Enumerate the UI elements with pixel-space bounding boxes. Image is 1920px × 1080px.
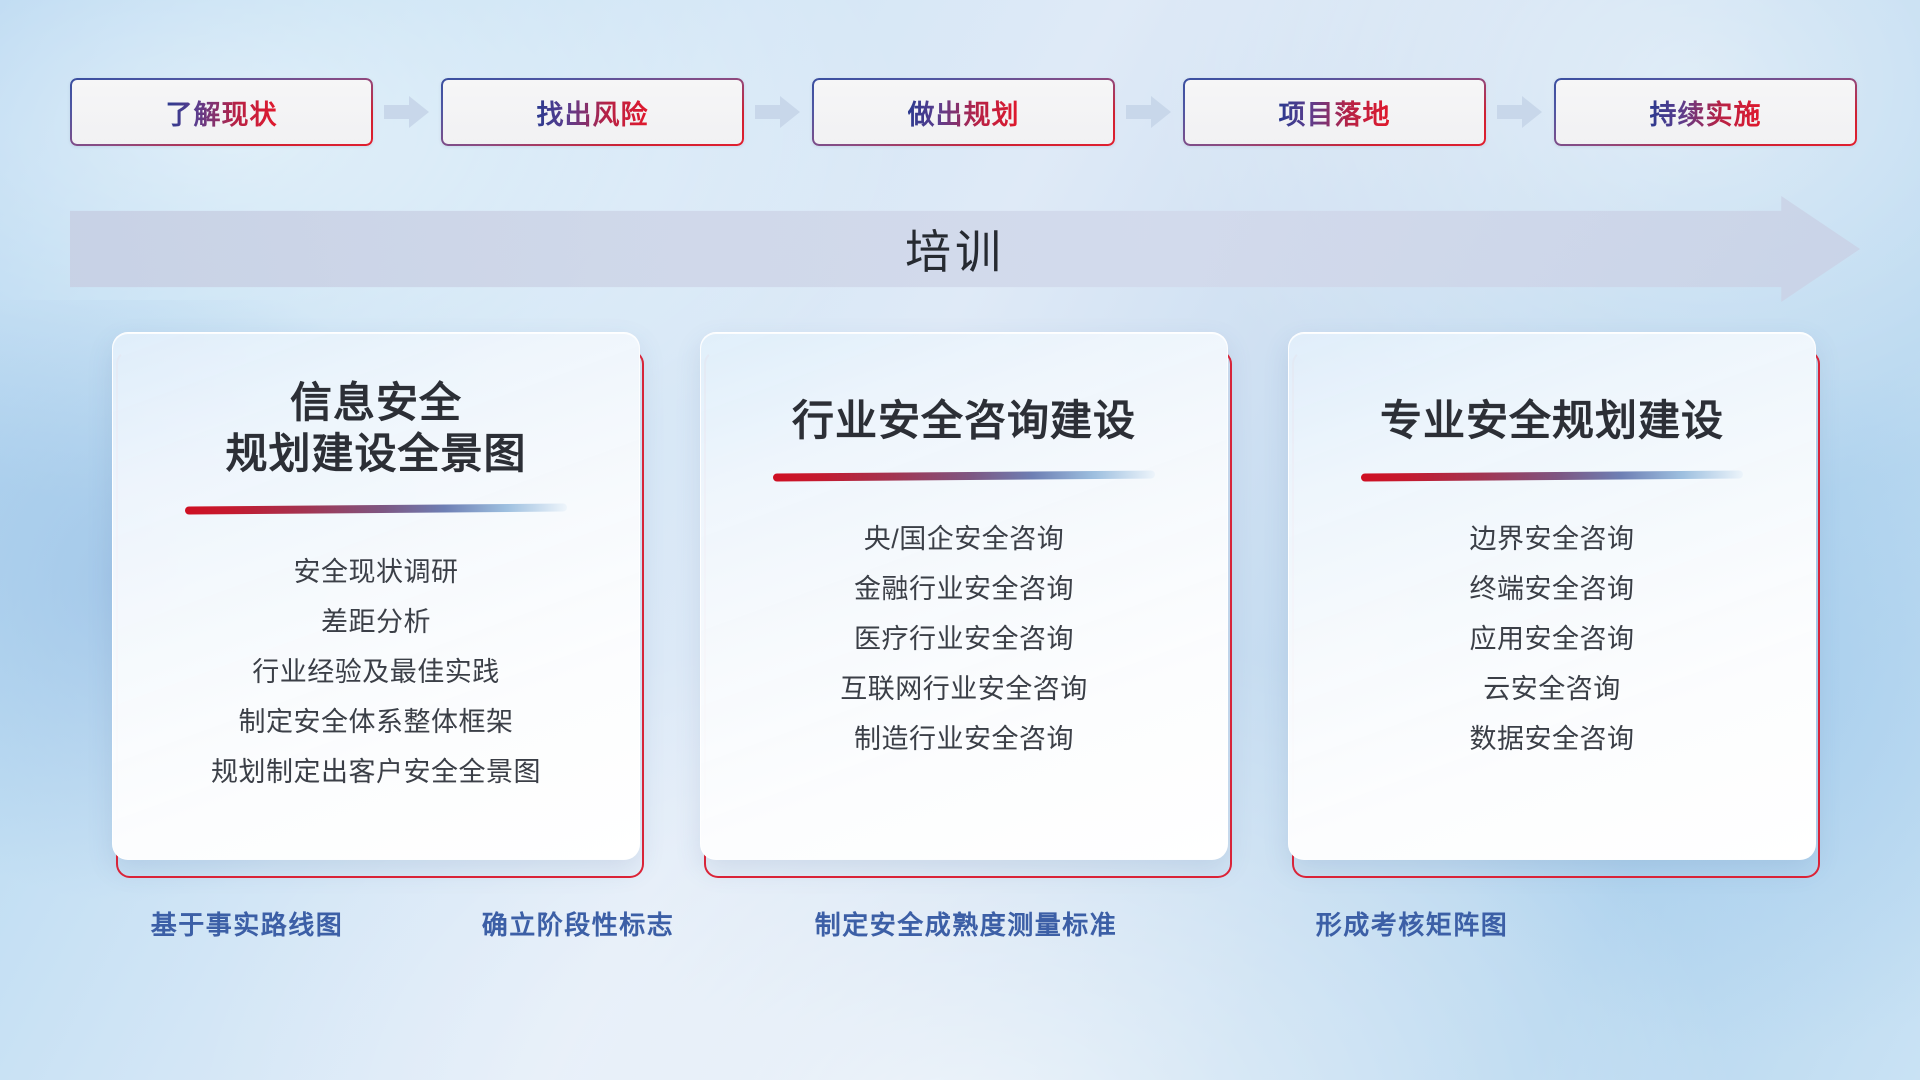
card-title-2: 行业安全咨询建设 bbox=[792, 395, 1136, 446]
arrow-right-icon-1 bbox=[373, 78, 441, 146]
feature-card-2[interactable]: 行业安全咨询建设 央/国企安全咨询 金融行业安全咨询 医疗行业安全咨询 互联网行… bbox=[700, 332, 1236, 878]
list-item: 数据安全咨询 bbox=[1470, 714, 1635, 764]
card-title-3: 专业安全规划建设 bbox=[1380, 395, 1724, 446]
list-item: 制造行业安全咨询 bbox=[854, 714, 1074, 764]
list-item: 规划制定出客户安全全景图 bbox=[211, 747, 541, 797]
step-label-3: 做出规划 bbox=[908, 93, 1020, 132]
arrow-right-icon-2 bbox=[744, 78, 812, 146]
card-surface: 专业安全规划建设 边界安全咨询 终端安全咨询 应用安全咨询 云安全咨询 数据安全… bbox=[1288, 332, 1816, 860]
list-item: 金融行业安全咨询 bbox=[854, 564, 1074, 614]
list-item: 央/国企安全咨询 bbox=[864, 514, 1065, 564]
card-surface: 行业安全咨询建设 央/国企安全咨询 金融行业安全咨询 医疗行业安全咨询 互联网行… bbox=[700, 332, 1228, 860]
list-item: 制定安全体系整体框架 bbox=[239, 697, 514, 747]
card-list-1: 安全现状调研 差距分析 行业经验及最佳实践 制定安全体系整体框架 规划制定出客户… bbox=[139, 547, 613, 797]
card-list-2: 央/国企安全咨询 金融行业安全咨询 医疗行业安全咨询 互联网行业安全咨询 制造行… bbox=[727, 514, 1201, 764]
slide-canvas: 了解现状 找出风险 做出规划 项目落地 bbox=[0, 0, 1920, 1080]
list-item: 安全现状调研 bbox=[294, 547, 459, 597]
card-divider-1 bbox=[185, 504, 567, 515]
list-item: 云安全咨询 bbox=[1483, 664, 1621, 714]
step-box-3[interactable]: 做出规划 bbox=[812, 78, 1115, 146]
caption-4: 形成考核矩阵图 bbox=[1316, 905, 1509, 942]
step-box-4[interactable]: 项目落地 bbox=[1183, 78, 1486, 146]
list-item: 医疗行业安全咨询 bbox=[854, 614, 1074, 664]
training-banner: 培训 bbox=[70, 196, 1860, 302]
process-step-row: 了解现状 找出风险 做出规划 项目落地 bbox=[70, 78, 1860, 146]
card-list-3: 边界安全咨询 终端安全咨询 应用安全咨询 云安全咨询 数据安全咨询 bbox=[1315, 514, 1789, 764]
card-divider-2 bbox=[773, 471, 1155, 482]
feature-card-3[interactable]: 专业安全规划建设 边界安全咨询 终端安全咨询 应用安全咨询 云安全咨询 数据安全… bbox=[1288, 332, 1824, 878]
feature-card-row: 信息安全 规划建设全景图 安全现状调研 差距分析 行业经验及最佳实践 制定安全体… bbox=[112, 332, 1824, 878]
step-box-5[interactable]: 持续实施 bbox=[1554, 78, 1857, 146]
card-title-1: 信息安全 规划建设全景图 bbox=[225, 377, 526, 479]
list-item: 互联网行业安全咨询 bbox=[840, 664, 1088, 714]
step-box-1[interactable]: 了解现状 bbox=[70, 78, 373, 146]
training-banner-label: 培训 bbox=[70, 196, 1860, 302]
list-item: 边界安全咨询 bbox=[1470, 514, 1635, 564]
step-label-2: 找出风险 bbox=[537, 93, 649, 132]
list-item: 行业经验及最佳实践 bbox=[252, 647, 500, 697]
step-box-2[interactable]: 找出风险 bbox=[441, 78, 744, 146]
list-item: 应用安全咨询 bbox=[1470, 614, 1635, 664]
card-divider-3 bbox=[1361, 471, 1743, 482]
arrow-right-icon-4 bbox=[1486, 78, 1554, 146]
caption-1: 基于事实路线图 bbox=[151, 905, 344, 942]
caption-3: 制定安全成熟度测量标准 bbox=[815, 905, 1118, 942]
caption-2: 确立阶段性标志 bbox=[482, 905, 675, 942]
step-label-1: 了解现状 bbox=[166, 93, 278, 132]
step-label-4: 项目落地 bbox=[1279, 93, 1391, 132]
card-surface: 信息安全 规划建设全景图 安全现状调研 差距分析 行业经验及最佳实践 制定安全体… bbox=[112, 332, 640, 860]
step-label-5: 持续实施 bbox=[1650, 93, 1762, 132]
list-item: 终端安全咨询 bbox=[1470, 564, 1635, 614]
feature-card-1[interactable]: 信息安全 规划建设全景图 安全现状调研 差距分析 行业经验及最佳实践 制定安全体… bbox=[112, 332, 648, 878]
caption-row: 基于事实路线图 确立阶段性标志 制定安全成熟度测量标准 形成考核矩阵图 bbox=[0, 905, 1920, 955]
list-item: 差距分析 bbox=[321, 597, 431, 647]
arrow-right-icon-3 bbox=[1115, 78, 1183, 146]
